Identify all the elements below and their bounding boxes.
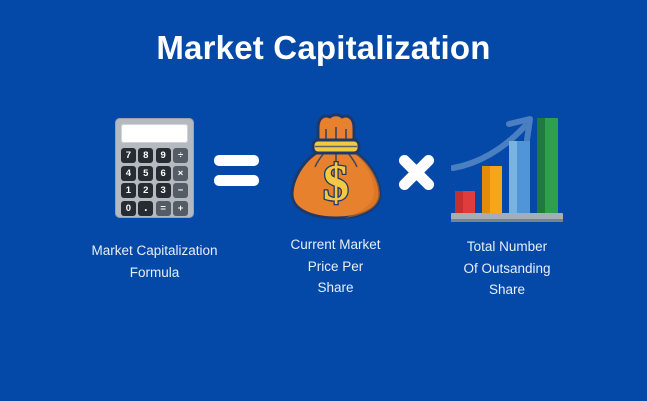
caption-total-number-of-outstanding-share: Total Number Of Outsanding Share: [432, 236, 582, 301]
bar-4: [537, 118, 558, 213]
calculator-key-4: 4: [121, 166, 136, 181]
calculator-key-7: 7: [121, 148, 136, 163]
caption-line: Price Per: [258, 256, 413, 278]
calculator-keypad: 7 8 9 ÷ 4 5 6 × 1 2 3 − 0 . = +: [121, 148, 188, 216]
calculator-key-2: 2: [138, 183, 153, 198]
caption-line: Total Number: [432, 236, 582, 258]
bar-1: [455, 191, 475, 213]
bar-2: [482, 166, 502, 213]
calculator-key-multiply: ×: [173, 166, 188, 181]
caption-line: Formula: [54, 262, 255, 284]
calculator-key-1: 1: [121, 183, 136, 198]
equals-sign-icon: [214, 155, 259, 186]
page-title: Market Capitalization: [0, 27, 647, 69]
calculator-display: [121, 124, 188, 143]
term-total-number-of-outstanding-share: Total Number Of Outsanding Share: [432, 112, 582, 301]
calculator-key-minus: −: [173, 183, 188, 198]
caption-market-capitalization-formula: Market Capitalization Formula: [54, 240, 255, 283]
calculator-key-decimal: .: [138, 201, 153, 216]
calculator-icon: 7 8 9 ÷ 4 5 6 × 1 2 3 − 0 . = +: [115, 118, 194, 218]
market-capitalization-infographic: Market Capitalization 7 8 9 ÷ 4 5 6 × 1 …: [0, 0, 647, 401]
calculator-key-3: 3: [156, 183, 171, 198]
bar-4-shade: [537, 118, 545, 213]
calculator-key-5: 5: [138, 166, 153, 181]
calculator-key-8: 8: [138, 148, 153, 163]
equals-bar-bottom: [214, 175, 259, 186]
calculator-key-6: 6: [156, 166, 171, 181]
equals-bar-top: [214, 155, 259, 166]
calculator-key-9: 9: [156, 148, 171, 163]
caption-line: Share: [258, 277, 413, 299]
money-bag-svg: $: [286, 112, 386, 220]
caption-line: Current Market: [258, 234, 413, 256]
term-market-capitalization-formula: 7 8 9 ÷ 4 5 6 × 1 2 3 − 0 . = + Market C…: [54, 118, 255, 283]
money-bag-icon: $: [286, 112, 386, 220]
term-current-market-price-per-share: $ Current Market Price Per Share: [258, 112, 413, 299]
bar-2-shade: [482, 166, 490, 213]
dollar-sign-glyph: $: [323, 155, 349, 212]
calculator-key-0: 0: [121, 201, 136, 216]
caption-line: Of Outsanding: [432, 258, 582, 280]
calculator-key-plus: +: [173, 201, 188, 216]
bar-1-shade: [455, 191, 463, 213]
caption-line: Share: [432, 279, 582, 301]
calculator-key-equals: =: [156, 201, 171, 216]
bar-chart-growth-icon: [451, 112, 563, 222]
caption-current-market-price-per-share: Current Market Price Per Share: [258, 234, 413, 299]
bar-3: [509, 141, 530, 213]
chart-baseline: [451, 213, 563, 222]
calculator-key-divide: ÷: [173, 148, 188, 163]
caption-line: Market Capitalization: [54, 240, 255, 262]
chart-baseline-edge: [451, 219, 563, 222]
bar-3-shade: [509, 141, 517, 213]
